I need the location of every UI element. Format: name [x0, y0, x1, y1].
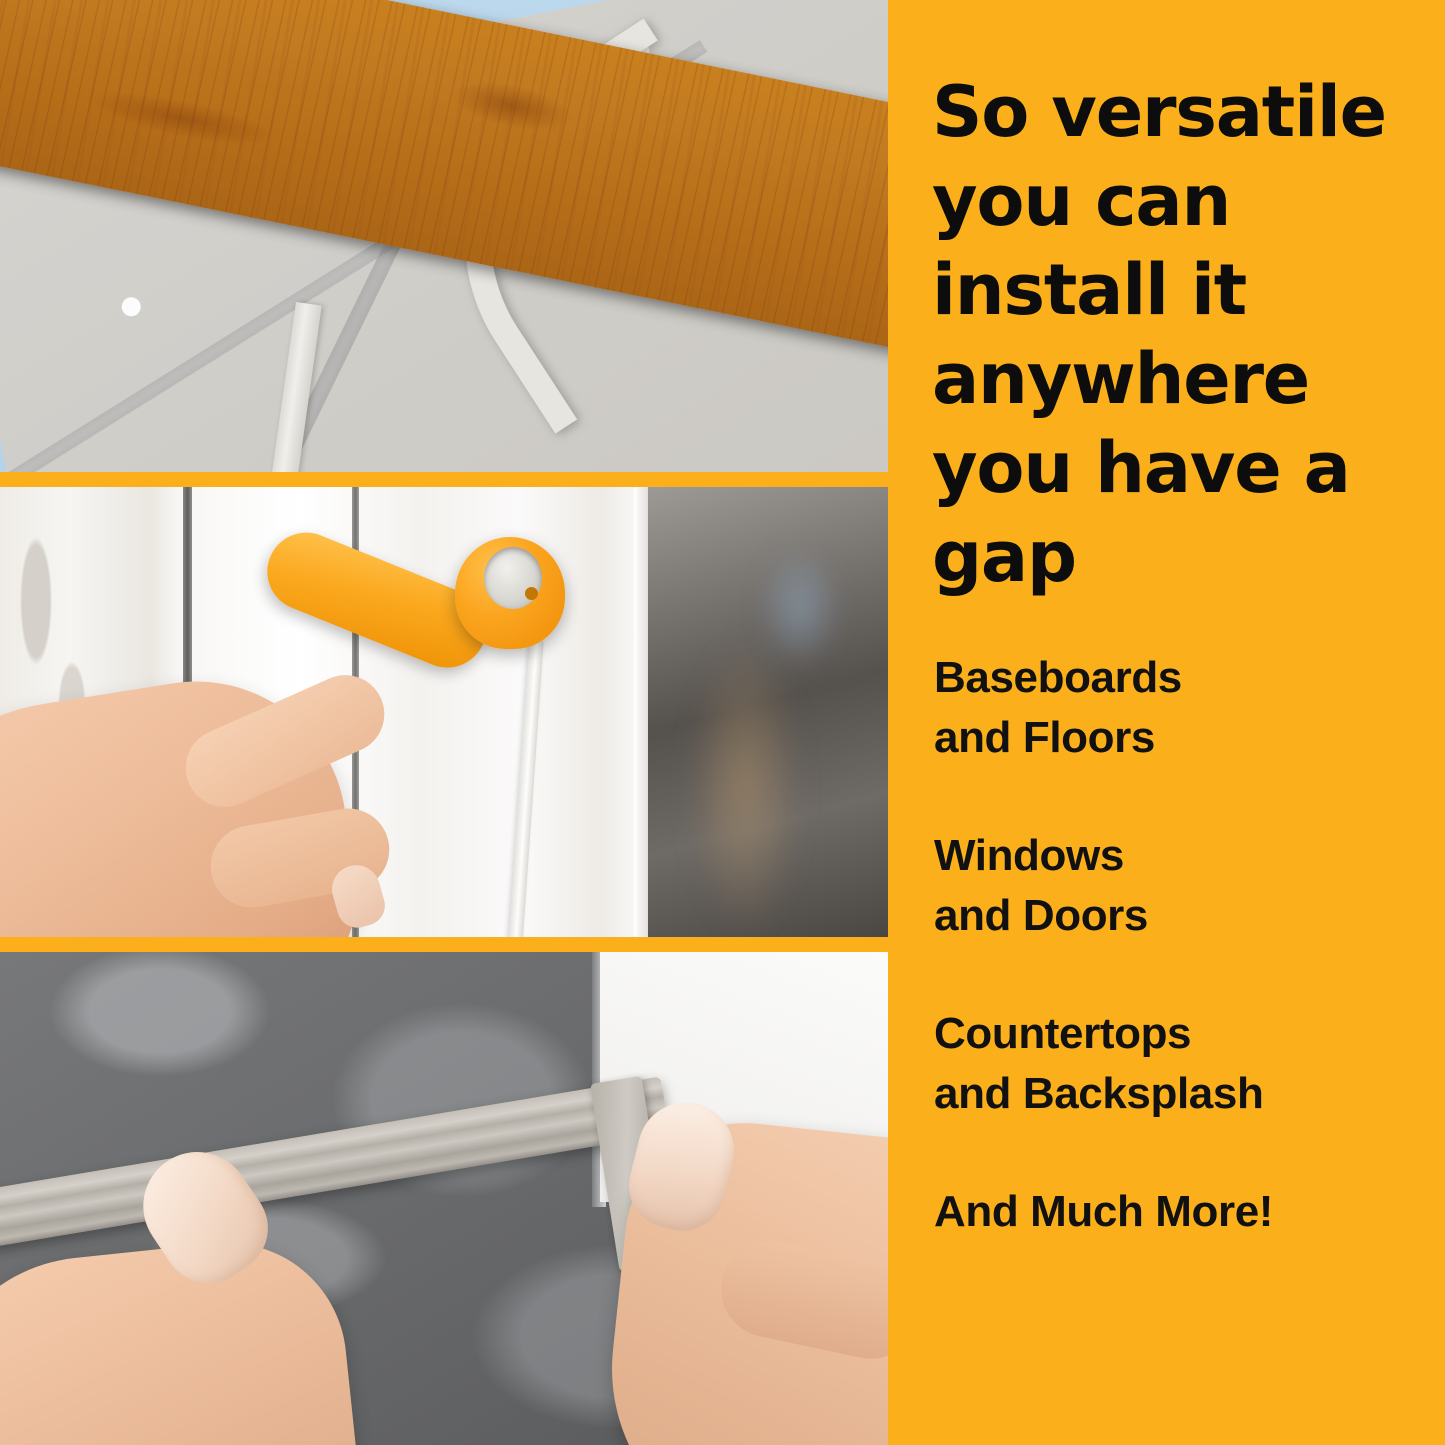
list-item: Windowsand Doors — [934, 826, 1444, 946]
wood-grain-knot — [449, 73, 575, 138]
list-item: And Much More! — [934, 1182, 1444, 1242]
window-and-door-photo — [0, 487, 888, 937]
wood-grain-knot-secondary — [91, 84, 274, 153]
baseboard-and-floor-photo — [0, 0, 888, 472]
photo-column — [0, 0, 888, 1445]
list-item: Baseboardsand Floors — [934, 648, 1444, 768]
text-column: So versatile you can install it anywhere… — [888, 0, 1445, 1445]
headline: So versatile you can install it anywhere… — [932, 68, 1432, 602]
applicator-tool-vent-hole — [525, 587, 538, 600]
glass-reflection — [690, 637, 800, 937]
product-feature-poster: So versatile you can install it anywhere… — [0, 0, 1445, 1445]
list-item: Countertopsand Backsplash — [934, 1004, 1444, 1124]
use-case-list: Baseboardsand Floors Windowsand Doors Co… — [934, 648, 1444, 1242]
glass-reflection-secondary — [760, 547, 840, 667]
countertop-and-backsplash-photo — [0, 952, 888, 1445]
